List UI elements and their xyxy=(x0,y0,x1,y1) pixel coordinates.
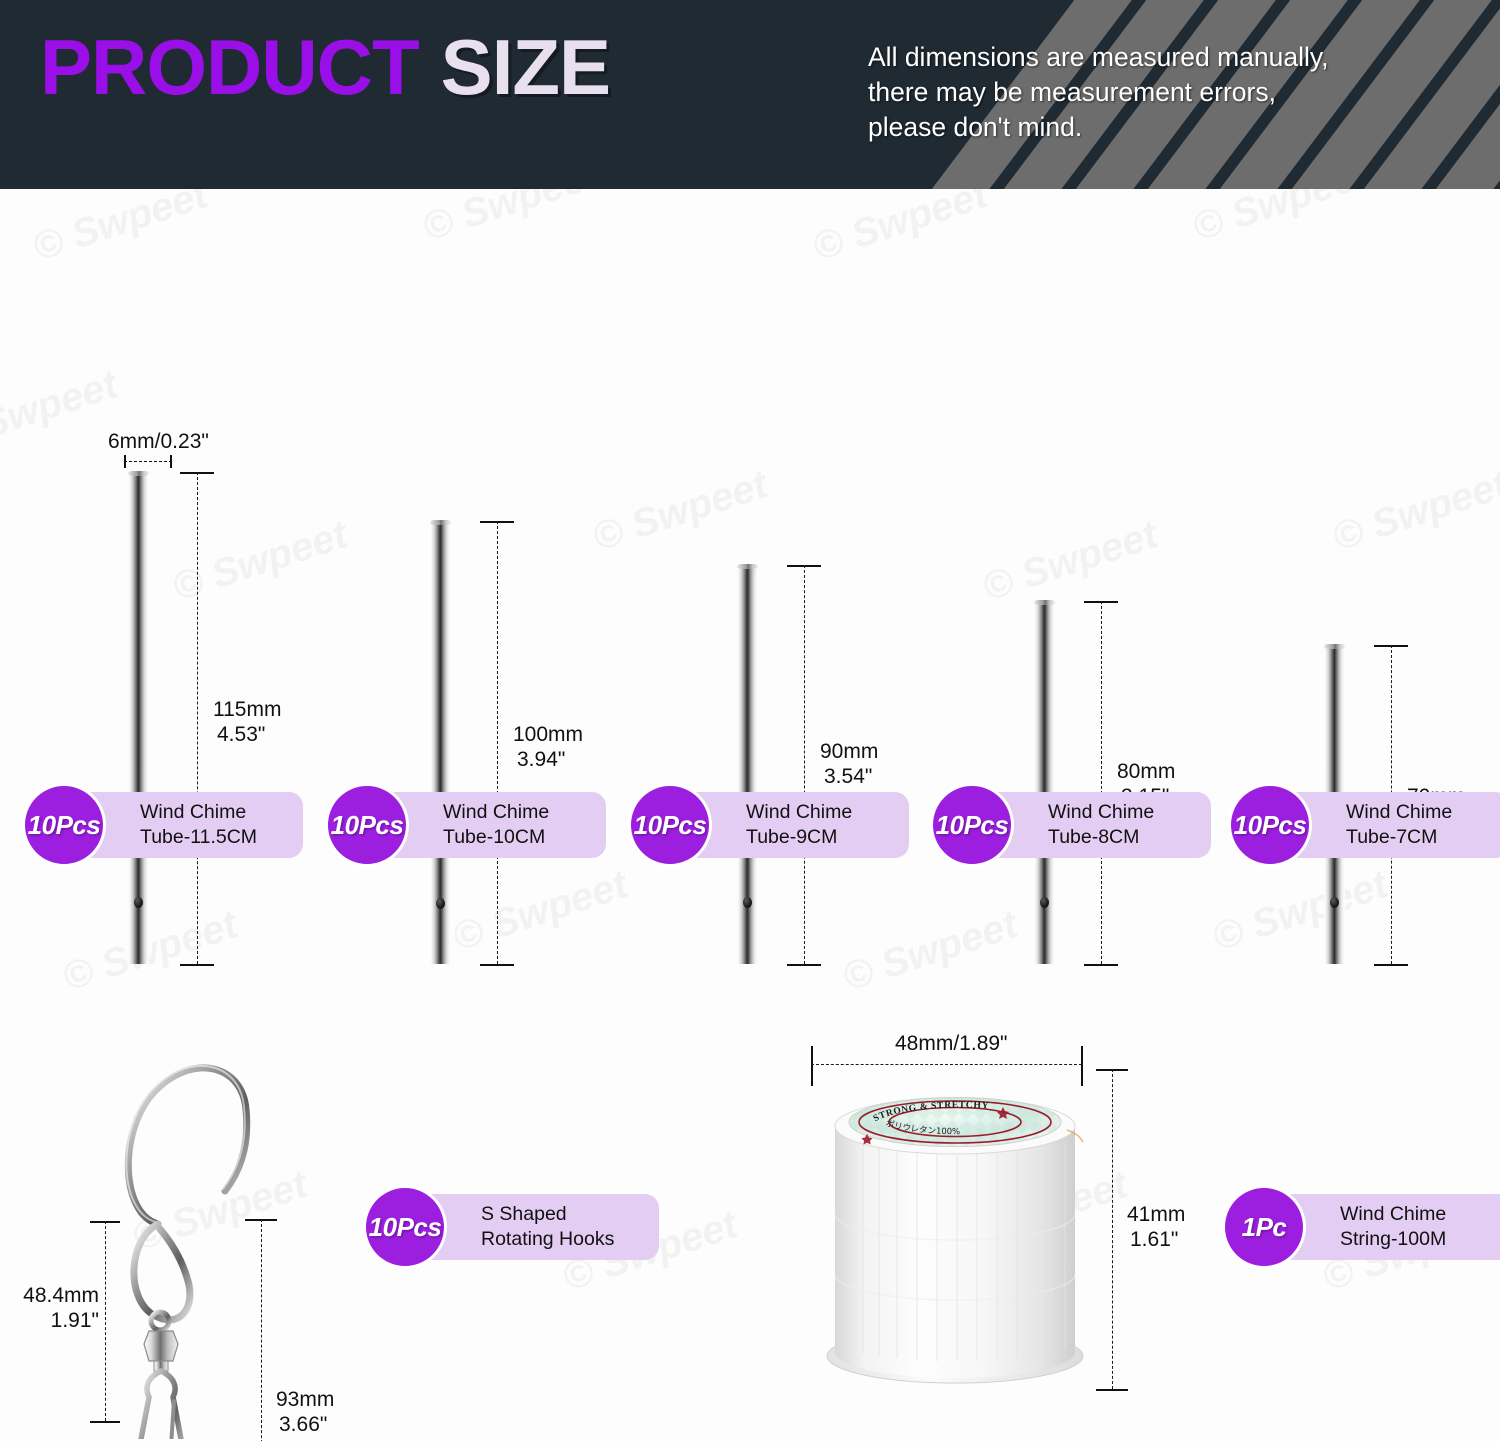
watermark: © Swpeet xyxy=(807,189,993,271)
badge-count: 10Pcs xyxy=(634,810,707,841)
hook-total-in: 3.66" xyxy=(279,1413,327,1436)
watermark: © Swpeet xyxy=(57,902,243,1001)
tube-dim-tick-bottom xyxy=(787,964,821,966)
watermark: © Swpeet xyxy=(0,362,123,461)
page-title-size: SIZE xyxy=(441,28,610,106)
watermark: © Swpeet xyxy=(27,189,213,271)
hook-upper-in: 1.91" xyxy=(51,1309,99,1332)
tube-length-label: 115mm 4.53" xyxy=(213,697,281,747)
tube-length-in: 3.94" xyxy=(517,748,565,771)
tube-cap-icon xyxy=(1324,644,1345,649)
watermark: © Swpeet xyxy=(977,512,1163,611)
tube-length-mm: 80mm xyxy=(1117,760,1175,783)
tube-dim-tick-bottom xyxy=(1374,964,1408,966)
badge-count: 10Pcs xyxy=(28,810,101,841)
watermark: © Swpeet xyxy=(1207,862,1393,961)
hook-upper-dim-line xyxy=(105,1221,106,1421)
tube-dim-line xyxy=(497,521,498,964)
spool-height-dim-line xyxy=(1112,1069,1113,1389)
badge-label: Wind Chime Tube-10CM xyxy=(443,800,549,850)
tube-length-in: 3.54" xyxy=(824,765,872,788)
tube-9cm xyxy=(737,564,758,964)
page-title: PRODUCTSIZE xyxy=(40,28,610,106)
header-disclaimer-note: All dimensions are measured manually, th… xyxy=(868,40,1329,145)
badge-label: Wind Chime Tube-11.5CM xyxy=(140,800,257,850)
badge-label: Wind Chime Tube-9CM xyxy=(746,800,852,850)
badge-count-circle: 10Pcs xyxy=(363,1185,447,1269)
badge-count-circle: 10Pcs xyxy=(1228,783,1312,867)
hook-total-length-label: 93mm 3.66" xyxy=(276,1387,334,1437)
hook-upper-length-label: 48.4mm 1.91" xyxy=(14,1283,99,1333)
badge-count: 10Pcs xyxy=(936,810,1009,841)
header-banner: PRODUCTSIZE All dimensions are measured … xyxy=(0,0,1500,189)
s-hook-illustration xyxy=(10,1009,350,1439)
hook-upper-mm: 48.4mm xyxy=(23,1284,99,1307)
tube-dim-line xyxy=(197,472,198,964)
spool-illustration: STRONG & STRETCHY ポリウレタン100% xyxy=(805,1064,1105,1394)
badge-count-circle: 10Pcs xyxy=(22,783,106,867)
badge-count: 10Pcs xyxy=(1234,810,1307,841)
tube-hole-icon xyxy=(436,898,445,909)
watermark: © Swpeet xyxy=(417,189,603,251)
tube-cap-icon xyxy=(737,564,758,569)
tube-dim-tick-bottom xyxy=(480,964,514,966)
watermark: © Swpeet xyxy=(1187,189,1373,251)
tube-hole-icon xyxy=(743,897,752,908)
page-title-product: PRODUCT xyxy=(40,28,419,106)
badge-label: S Shaped Rotating Hooks xyxy=(481,1202,614,1252)
tube-hole-icon xyxy=(134,897,143,908)
badge-label: Wind Chime Tube-8CM xyxy=(1048,800,1154,850)
spool-height-label: 41mm 1.61" xyxy=(1127,1202,1185,1252)
tube-length-mm: 115mm xyxy=(213,698,281,721)
badge-count-circle: 10Pcs xyxy=(325,783,409,867)
tube-length-label: 100mm 3.94" xyxy=(513,722,583,772)
tube-length-label: 90mm 3.54" xyxy=(820,739,878,789)
tube-cap-icon xyxy=(128,471,149,476)
badge-label: Wind Chime Tube-7CM xyxy=(1346,800,1452,850)
tube-dim-line xyxy=(804,565,805,964)
tube-length-mm: 90mm xyxy=(820,740,878,763)
watermark: © Swpeet xyxy=(1327,462,1500,561)
watermark: © Swpeet xyxy=(447,862,633,961)
watermark: © Swpeet xyxy=(587,462,773,561)
badge-count: 10Pcs xyxy=(369,1212,442,1243)
badge-count-circle: 10Pcs xyxy=(628,783,712,867)
badge-count: 1Pc xyxy=(1242,1212,1287,1243)
badge-label: Wind Chime String-100M xyxy=(1340,1202,1446,1252)
watermark: © Swpeet xyxy=(837,902,1023,1001)
tube-length-mm: 100mm xyxy=(513,723,583,746)
badge-count-circle: 10Pcs xyxy=(930,783,1014,867)
tube-dim-line xyxy=(1101,601,1102,964)
badge-count: 10Pcs xyxy=(331,810,404,841)
tube-dim-tick-bottom xyxy=(180,964,214,966)
spool-height-mm: 41mm xyxy=(1127,1203,1185,1226)
badge-count-circle: 1Pc xyxy=(1222,1185,1306,1269)
spool-width-label: 48mm/1.89" xyxy=(895,1031,1008,1056)
tube-11-5cm xyxy=(128,471,149,964)
tube-diameter-label: 6mm/0.23" xyxy=(108,429,209,454)
watermark: © Swpeet xyxy=(167,512,353,611)
spool-height-tick-bottom xyxy=(1096,1389,1128,1391)
tube-hole-icon xyxy=(1040,897,1049,908)
tube-hole-icon xyxy=(1330,897,1339,908)
tube-length-in: 4.53" xyxy=(217,723,265,746)
tube-8cm xyxy=(1034,600,1055,964)
tube-diameter-caliper xyxy=(124,455,172,468)
product-diagram-area: © Swpeet © Swpeet © Swpeet © Swpeet © Sw… xyxy=(0,189,1500,1441)
tube-10cm xyxy=(430,520,451,964)
tube-cap-icon xyxy=(1034,600,1055,605)
tube-cap-icon xyxy=(430,520,451,525)
hook-total-mm: 93mm xyxy=(276,1388,334,1411)
hook-upper-dim-tick-bottom xyxy=(90,1421,120,1423)
tube-dim-tick-bottom xyxy=(1084,964,1118,966)
hook-total-dim-line xyxy=(261,1219,262,1441)
spool-height-in: 1.61" xyxy=(1130,1228,1178,1251)
